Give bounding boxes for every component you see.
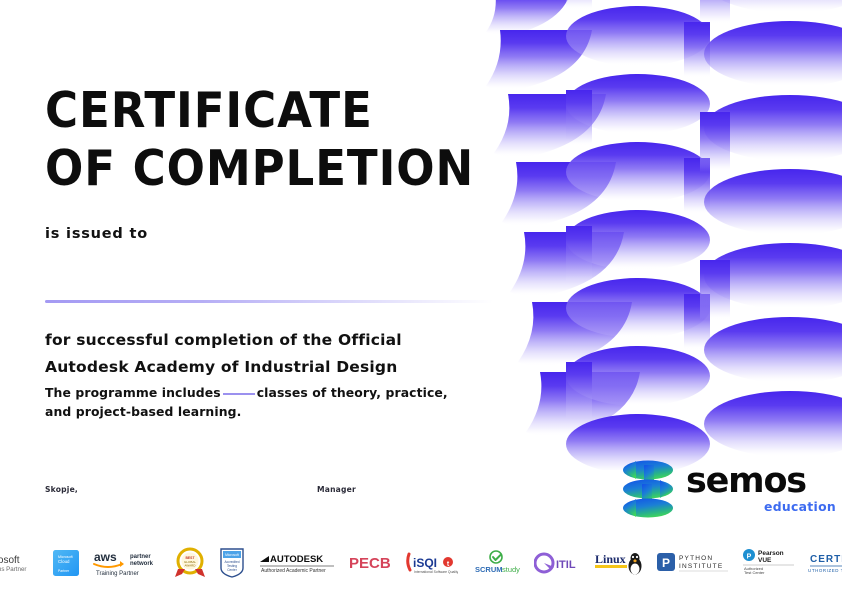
partner-logo-autodesk-authorized-academic-partner: AUTODESK Authorized Academic Partner — [258, 546, 336, 580]
svg-text:Test Center: Test Center — [744, 570, 765, 575]
svg-text:AWARD: AWARD — [185, 564, 197, 568]
completion-statement: for successful completion of the Officia… — [45, 327, 402, 381]
svg-text:Center: Center — [227, 568, 238, 572]
certificate-page: CERTIFICATE OF COMPLETION is issued to f… — [0, 0, 842, 595]
svg-text:AUTHORIZED TESTING CENTER: AUTHORIZED TESTING CENTER — [808, 568, 842, 573]
partner-logo-isqi: iSQI t International Software Quality In… — [406, 546, 458, 580]
partner-logo-linux: Linux — [594, 546, 644, 580]
svg-text:iSQI: iSQI — [413, 556, 437, 570]
partner-logo-shield-badge: Microsoft Accredited Testing Center — [218, 546, 246, 580]
svg-text:aws: aws — [94, 550, 117, 564]
svg-text:Solutions Partner: Solutions Partner — [0, 566, 26, 573]
svg-text:partner: partner — [130, 554, 151, 560]
partner-logo-pearson-vue: P Pearson VUE Authorized Test Center — [742, 546, 796, 580]
svg-text:Linux: Linux — [595, 552, 626, 566]
svg-text:network: network — [130, 561, 154, 567]
partner-logo-microsoft-solutions-partner: Microsoft Solutions Partner — [0, 546, 40, 580]
svg-text:AUTODESK: AUTODESK — [270, 554, 323, 565]
issue-city-label: Skopje, — [45, 485, 78, 494]
signatory-role-label: Manager — [317, 485, 356, 494]
semos-education-logo: semos education — [622, 458, 816, 520]
partner-logo-microsoft-cloud-badge: Microsoft Cloud Partner — [52, 546, 80, 580]
decorative-s-pattern — [482, 0, 842, 470]
programme-text-before: The programme includes — [45, 385, 221, 400]
issued-to-label: is issued to — [45, 226, 148, 242]
svg-text:P: P — [747, 554, 752, 561]
page-title: CERTIFICATE OF COMPLETION — [45, 82, 474, 198]
semos-tagline: education — [764, 499, 836, 514]
svg-text:CERTIPORT: CERTIPORT — [810, 554, 842, 565]
recipient-name-underline — [45, 300, 493, 303]
svg-text:Authorized Academic Partner: Authorized Academic Partner — [261, 568, 326, 574]
partner-logo-itil: ITIL — [534, 546, 582, 580]
programme-text-after: classes of theory, practice, — [257, 385, 448, 400]
title-line-1: CERTIFICATE — [45, 82, 373, 139]
svg-text:Cloud: Cloud — [58, 559, 70, 564]
semos-wordmark: semos — [686, 462, 806, 500]
title-line-2: OF COMPLETION — [45, 140, 474, 198]
svg-text:ITIL: ITIL — [556, 559, 576, 571]
svg-text:Microsoft: Microsoft — [225, 553, 239, 557]
statement-line-1: for successful completion of the Officia… — [45, 327, 402, 354]
programme-classes-blank[interactable] — [223, 393, 255, 395]
svg-text:Pearson: Pearson — [758, 550, 784, 557]
svg-text:Microsoft: Microsoft — [0, 555, 20, 566]
recipient-name-field[interactable] — [45, 262, 493, 294]
partner-logo-certiport: CERTIPORT AUTHORIZED TESTING CENTER — [808, 546, 842, 580]
svg-text:Training Partner: Training Partner — [96, 571, 139, 577]
statement-line-2: Autodesk Academy of Industrial Design — [45, 354, 402, 381]
svg-text:study: study — [502, 565, 520, 574]
svg-text:PYTHON: PYTHON — [679, 555, 713, 562]
partner-logo-aws-partner-network: aws partner network Training Partner — [92, 546, 162, 580]
svg-text:PECB: PECB — [349, 555, 391, 572]
svg-text:Partner: Partner — [58, 569, 70, 573]
partner-logo-award-seal: BEST GLOBAL AWARD — [174, 546, 206, 580]
programme-line-1: The programme includesclasses of theory,… — [45, 383, 448, 402]
partner-logo-pecb: PECB — [348, 546, 394, 580]
programme-line-2: and project-based learning. — [45, 402, 448, 421]
svg-text:P: P — [662, 556, 670, 570]
programme-details: The programme includesclasses of theory,… — [45, 383, 448, 421]
svg-text:INSTITUTE: INSTITUTE — [679, 563, 723, 570]
partner-logo-scrumstudy: SCRUM study — [470, 546, 522, 580]
partner-logo-python-institute: P PYTHON INSTITUTE — [656, 546, 730, 580]
svg-text:VUE: VUE — [758, 557, 772, 564]
svg-text:International Software Quality: International Software Quality Institute — [414, 570, 458, 574]
svg-text:SCRUM: SCRUM — [475, 565, 503, 574]
semos-logo-mark — [622, 458, 674, 520]
partner-logos-row: Microsoft Solutions Partner Microsoft Cl… — [0, 541, 842, 585]
